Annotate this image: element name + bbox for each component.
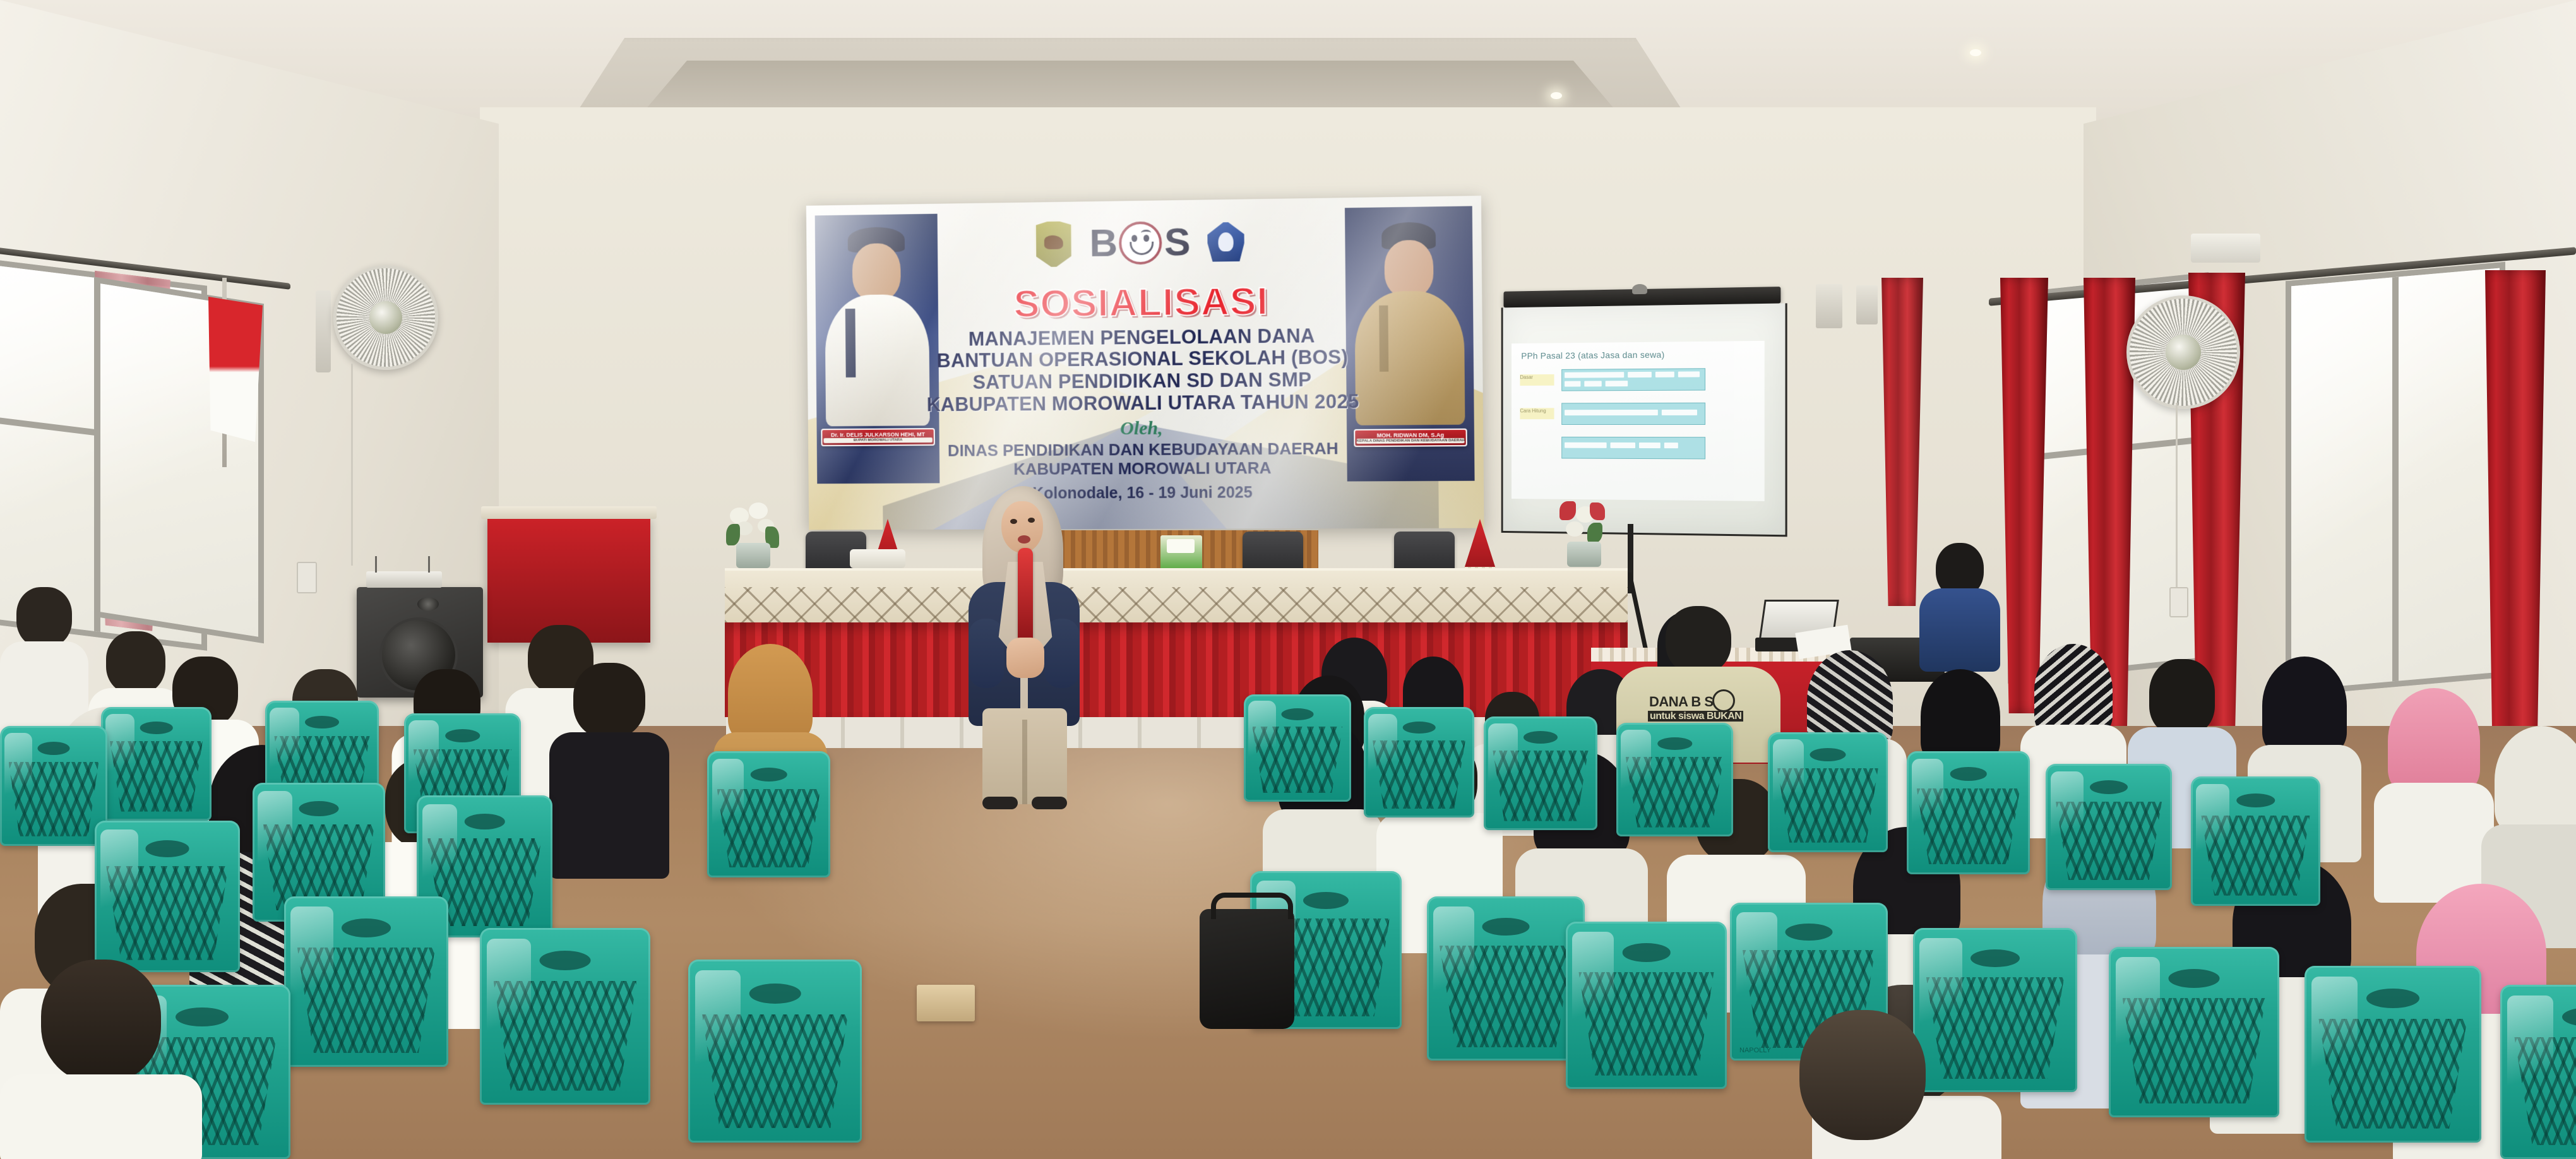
banner-title: SOSIALISASI xyxy=(880,281,1406,324)
audience-chair[interactable] xyxy=(688,960,862,1143)
presenter-eye xyxy=(1010,519,1017,524)
audience-chair[interactable] xyxy=(2191,776,2320,906)
audience-chair[interactable] xyxy=(1566,922,1727,1089)
tshirt-slogan-line2: untuk siswa BUKAN xyxy=(1648,711,1743,722)
head-table-chair[interactable] xyxy=(1243,532,1303,571)
banner-organizer-line-2: KABUPATEN MOROWALI UTARA xyxy=(881,458,1408,478)
bos-letter-s: S xyxy=(1164,223,1190,263)
wall-outlet-right[interactable] xyxy=(2169,587,2188,617)
conference-room-photo: Dr. Ir. DELIS JULKARSON HEHI, MT BUPATI … xyxy=(0,0,2576,1159)
attendee xyxy=(2374,688,2494,896)
audience-chair[interactable] xyxy=(480,928,650,1105)
audience-chair[interactable] xyxy=(1364,707,1474,817)
wall-outlet-left[interactable] xyxy=(297,562,317,593)
head-table-cloth xyxy=(725,568,1628,625)
audience-chair[interactable] xyxy=(1484,716,1597,830)
screen-knob-icon xyxy=(1632,284,1647,294)
handbag xyxy=(1200,909,1294,1029)
banner-text-block: SOSIALISASI MANAJEMEN PENGELOLAAN DANA B… xyxy=(807,280,1484,504)
bos-wordmark: B S xyxy=(1089,221,1190,265)
audience-chair[interactable] xyxy=(0,726,107,846)
podium xyxy=(487,516,650,643)
wall-fan-right-icon[interactable] xyxy=(2126,295,2240,409)
banner-organizer-line-1: DINAS PENDIDIKAN DAN KEBUDAYAAN DAERAH xyxy=(881,439,1407,461)
presenter-speaker xyxy=(952,486,1097,802)
banner-subtitle-line-2: BANTUAN OPERASIONAL SEKOLAH (BOS) xyxy=(880,346,1407,372)
fan-bracket-left xyxy=(316,290,331,372)
presenter-mouth xyxy=(1018,535,1030,544)
audience-chair[interactable] xyxy=(1244,694,1351,802)
wall-fixture-back-2 xyxy=(1856,285,1878,324)
banner-logo-row: B S xyxy=(1034,217,1246,269)
wall-box-right xyxy=(2191,234,2260,263)
indonesian-flag-icon xyxy=(208,297,263,442)
attendee xyxy=(549,663,669,877)
audience-chair[interactable] xyxy=(1427,896,1585,1061)
audience-chair[interactable] xyxy=(95,821,240,972)
slide-title: PPh Pasal 23 (atas Jasa dan sewa) xyxy=(1521,350,1664,361)
audience-chair[interactable] xyxy=(1768,732,1888,852)
audience-chair[interactable] xyxy=(2046,764,2172,890)
attendee-foreground xyxy=(1755,1010,1970,1159)
curtain-right-4[interactable] xyxy=(2485,270,2546,750)
audience-chair[interactable] xyxy=(101,707,212,821)
banner-oleh-label: Oleh, xyxy=(881,417,1407,441)
morowali-utara-crest-icon xyxy=(1034,220,1073,270)
wall-fan-left-icon[interactable] xyxy=(333,265,438,370)
snack-box-on-floor xyxy=(917,985,975,1021)
presenter-shoe xyxy=(982,797,1018,809)
tut-wuri-handayani-icon xyxy=(1205,220,1246,264)
screen-surface: PPh Pasal 23 (atas Jasa dan sewa) Dasar … xyxy=(1501,303,1787,537)
presenter-shoe xyxy=(1032,797,1067,809)
slide-row-1 xyxy=(1561,368,1705,391)
audience-chair[interactable] xyxy=(2305,966,2481,1143)
slide-row-2 xyxy=(1561,403,1705,425)
presenter-face xyxy=(1001,501,1043,553)
slide-row-label-1: Dasar xyxy=(1520,374,1554,386)
projector-screen: PPh Pasal 23 (atas Jasa dan sewa) Dasar … xyxy=(1501,287,1784,563)
audience-chair[interactable] xyxy=(1907,751,2030,874)
banner-subtitle-line-4: KABUPATEN MOROWALI UTARA TAHUN 2025 xyxy=(881,390,1407,416)
attendee-foreground xyxy=(0,960,202,1159)
window-right-2 xyxy=(2286,262,2505,696)
presenter-eye xyxy=(1028,518,1035,523)
slide-row-3 xyxy=(1561,437,1705,460)
bos-smiley-icon xyxy=(1119,222,1162,265)
wall-fixture-back xyxy=(1816,284,1842,328)
microphone-icon[interactable] xyxy=(1018,548,1033,643)
downlight-icon xyxy=(1551,92,1562,99)
presenter-hands xyxy=(1006,638,1044,678)
head-table-chair[interactable] xyxy=(1394,532,1455,571)
bos-letter-b: B xyxy=(1089,224,1116,263)
audience-chair[interactable] xyxy=(1616,723,1733,836)
speaker-tweeter-icon xyxy=(417,597,439,611)
fan-cord-right xyxy=(2176,403,2178,592)
presenter-trousers xyxy=(982,708,1067,804)
audience-chair[interactable] xyxy=(2500,985,2576,1159)
table-snack-box xyxy=(1160,535,1202,571)
table-bowl xyxy=(850,549,905,568)
audience-chair[interactable] xyxy=(707,751,830,877)
event-banner: Dr. Ir. DELIS JULKARSON HEHI, MT BUPATI … xyxy=(806,196,1484,530)
presentation-slide: PPh Pasal 23 (atas Jasa dan sewa) Dasar … xyxy=(1512,341,1765,501)
presenter-arm xyxy=(969,619,1004,688)
tshirt-slogan-line1: DANA B S xyxy=(1649,696,1714,709)
fan-cord-left xyxy=(351,364,353,566)
audience-chair[interactable] xyxy=(2109,947,2279,1117)
slide-row-label-2: Cara Hitung xyxy=(1520,408,1554,419)
audience-chair[interactable] xyxy=(284,896,448,1067)
downlight-icon xyxy=(1970,49,1981,56)
wireless-mic-receiver[interactable] xyxy=(366,571,442,588)
attendee xyxy=(1919,543,2000,669)
